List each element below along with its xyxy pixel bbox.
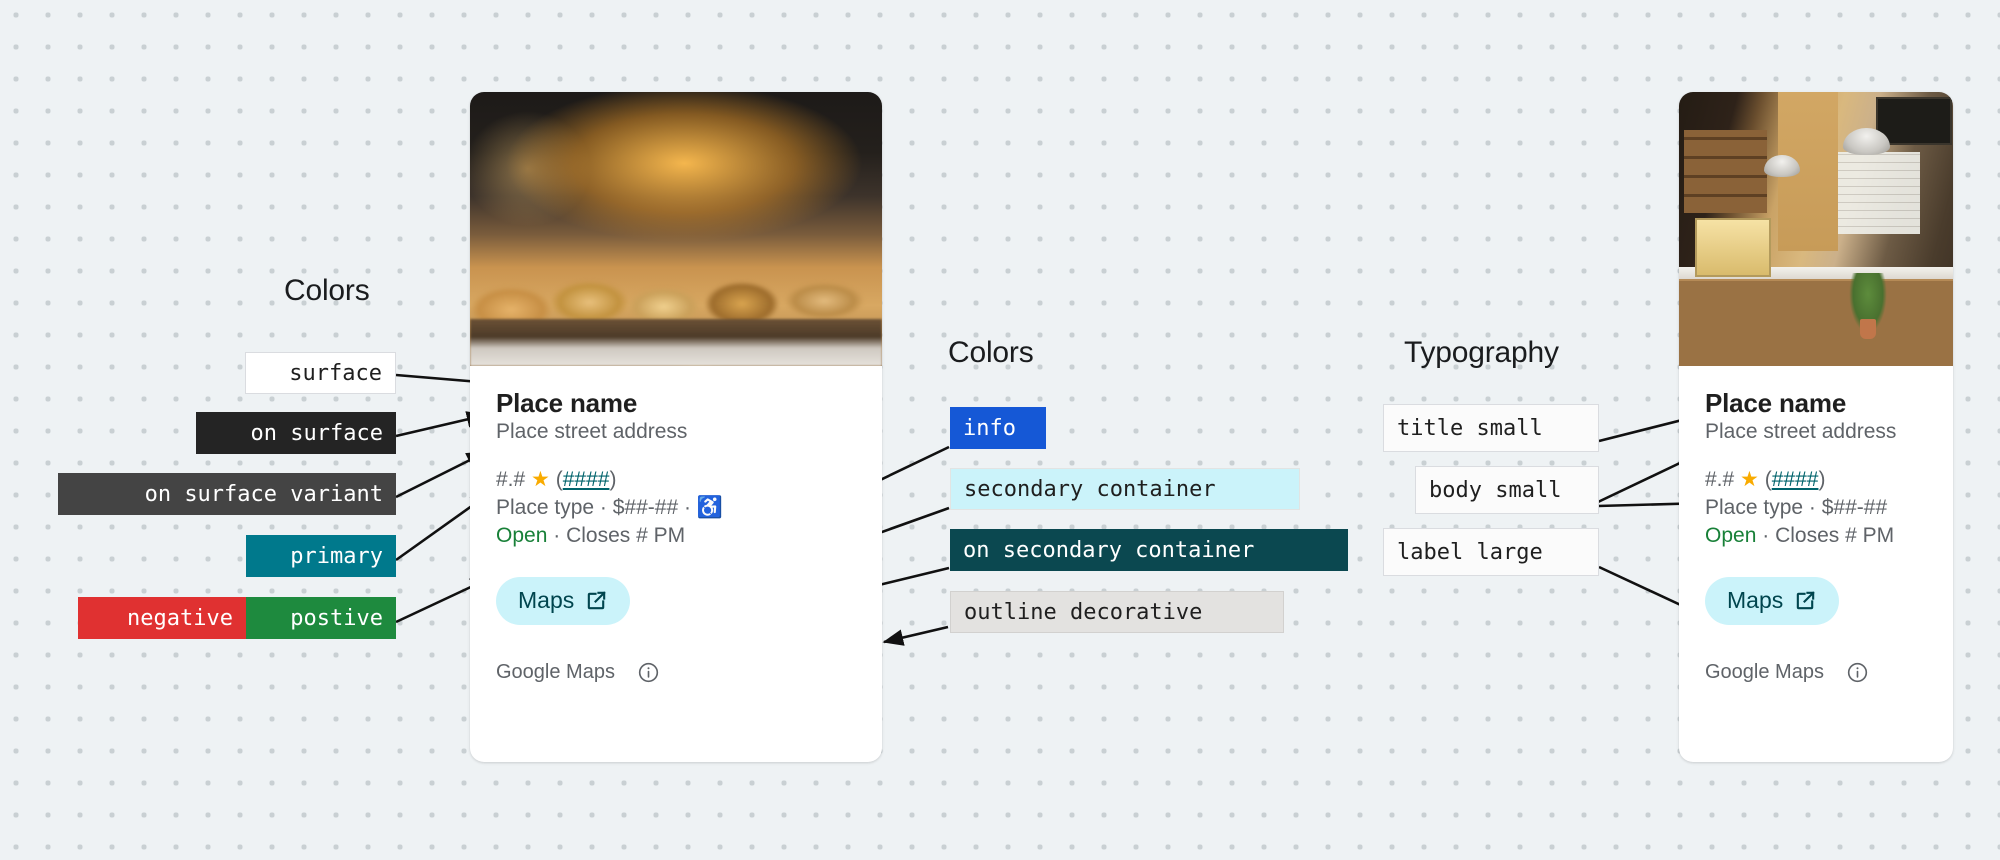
rating-count-close: ) — [1818, 468, 1825, 491]
maps-button-label: Maps — [1727, 587, 1783, 614]
color-token-on-surface-variant[interactable]: on surface variant — [58, 473, 396, 515]
color-token-info[interactable]: info — [950, 407, 1046, 449]
design-annotation-canvas: Colors Colors Typography surface on surf… — [0, 0, 2000, 860]
external-link-icon — [585, 589, 608, 612]
cafe-plant-pot — [1860, 319, 1876, 338]
place-card-footer: Google Maps — [1679, 661, 1953, 684]
color-token-positive[interactable]: postive — [246, 597, 396, 639]
cafe-shelving — [1684, 130, 1766, 212]
place-meta-row: Place type · $##-## — [1705, 494, 1927, 522]
type-token-body-small[interactable]: body small — [1415, 466, 1599, 514]
star-icon: ★ — [1740, 468, 1759, 491]
place-hours-row: Open · Closes # PM — [1705, 522, 1927, 550]
open-status: Open — [496, 524, 547, 547]
color-token-label: secondary container — [964, 477, 1216, 502]
page-title-typography: Typography — [1404, 336, 1559, 370]
meta-separator-1: · — [600, 496, 607, 519]
place-photo — [470, 92, 882, 366]
place-card-body: Place name Place street address #.# ★ (#… — [1679, 366, 1953, 625]
type-token-label: body small — [1429, 478, 1561, 503]
rating-count-open: ( — [556, 468, 563, 491]
meta-separator-1: · — [1809, 496, 1816, 519]
external-link-icon — [1794, 589, 1817, 612]
place-name: Place name — [496, 388, 856, 419]
bakery-pastry-display-photo — [470, 92, 882, 366]
color-token-primary[interactable]: primary — [246, 535, 396, 577]
footer-label: Google Maps — [496, 661, 615, 684]
place-rating-row: #.# ★ (####) — [496, 466, 856, 494]
place-type: Place type — [496, 496, 594, 519]
color-token-label: surface — [289, 361, 382, 386]
color-token-on-surface[interactable]: on surface — [196, 412, 396, 454]
color-token-label: on secondary container — [963, 538, 1254, 563]
rating-value: #.# — [496, 468, 525, 491]
cafe-pendant-lamp — [1764, 155, 1800, 177]
cafe-tiles — [1838, 152, 1920, 234]
page-title-colors-mid: Colors — [948, 336, 1034, 370]
place-card-left: Place name Place street address #.# ★ (#… — [470, 92, 882, 762]
place-photo — [1679, 92, 1953, 366]
star-icon: ★ — [531, 468, 550, 491]
page-title-colors-left: Colors — [284, 274, 370, 308]
rating-count-close: ) — [609, 468, 616, 491]
color-token-label: info — [963, 416, 1016, 441]
closing-time: Closes # PM — [1775, 524, 1894, 547]
rating-count-link[interactable]: #### — [563, 468, 610, 491]
info-icon[interactable] — [637, 661, 660, 684]
type-token-label-large[interactable]: label large — [1383, 528, 1599, 576]
cafe-display-case — [1695, 218, 1770, 277]
place-rating-row: #.# ★ (####) — [1705, 466, 1927, 494]
color-token-label: outline decorative — [964, 600, 1202, 625]
hours-separator: · — [1762, 524, 1769, 547]
cafe-interior-photo — [1679, 92, 1953, 366]
type-token-title-small[interactable]: title small — [1383, 404, 1599, 452]
color-token-label: negative — [127, 606, 233, 631]
type-token-label: title small — [1397, 416, 1543, 441]
color-token-outline-decorative[interactable]: outline decorative — [950, 591, 1284, 633]
place-hours-row: Open · Closes # PM — [496, 522, 856, 550]
rating-count-open: ( — [1765, 468, 1772, 491]
place-meta-row: Place type · $##-## · ♿ — [496, 494, 856, 522]
wheelchair-icon: ♿ — [697, 496, 723, 519]
info-icon[interactable] — [1846, 661, 1869, 684]
color-token-on-secondary-container[interactable]: on secondary container — [950, 529, 1348, 571]
price-range: $##-## — [613, 496, 678, 519]
hours-separator: · — [553, 524, 560, 547]
maps-button-label: Maps — [518, 587, 574, 614]
place-street-address: Place street address — [496, 419, 856, 446]
color-token-label: primary — [290, 544, 383, 569]
place-street-address: Place street address — [1705, 419, 1927, 446]
closing-time: Closes # PM — [566, 524, 685, 547]
place-type: Place type — [1705, 496, 1803, 519]
place-card-body: Place name Place street address #.# ★ (#… — [470, 366, 882, 625]
color-token-secondary-container[interactable]: secondary container — [950, 468, 1300, 510]
color-token-label: on surface — [251, 421, 383, 446]
rating-count-link[interactable]: #### — [1772, 468, 1819, 491]
color-token-negative[interactable]: negative — [78, 597, 246, 639]
place-card-right: Place name Place street address #.# ★ (#… — [1679, 92, 1953, 762]
footer-label: Google Maps — [1705, 661, 1824, 684]
rating-value: #.# — [1705, 468, 1734, 491]
price-range: $##-## — [1822, 496, 1887, 519]
maps-button[interactable]: Maps — [496, 577, 630, 625]
place-name: Place name — [1705, 388, 1927, 419]
color-token-surface[interactable]: surface — [245, 352, 396, 394]
type-token-label: label large — [1397, 540, 1543, 565]
open-status: Open — [1705, 524, 1756, 547]
meta-separator-2: · — [684, 496, 691, 519]
color-token-label: postive — [290, 606, 383, 631]
color-token-label: on surface variant — [145, 482, 383, 507]
cafe-counter — [1679, 267, 1953, 366]
maps-button[interactable]: Maps — [1705, 577, 1839, 625]
place-card-footer: Google Maps — [470, 661, 882, 684]
